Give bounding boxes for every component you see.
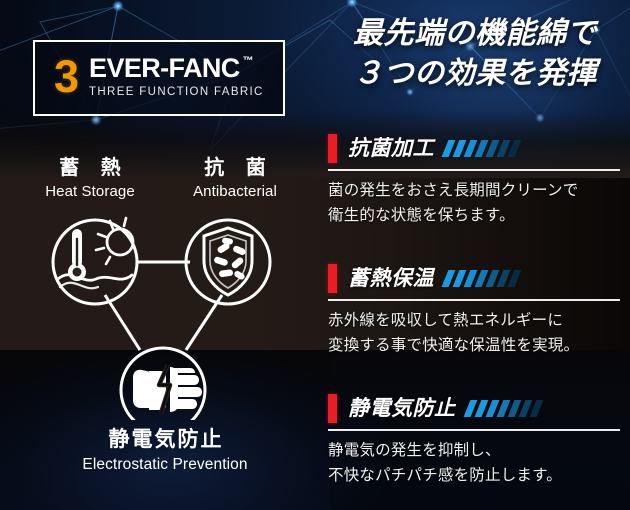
feature-body-line-1: 赤外線を吸収して熱エネルギーに [328, 308, 624, 333]
red-accent-bar-icon [328, 134, 337, 163]
label-antibacterial-en: Antibacterial [160, 183, 310, 201]
trademark-icon: ™ [243, 56, 253, 67]
feature-heading: 静電気防止 [328, 392, 624, 424]
feature-body-line-2: 不快なパチパチ感を防止します。 [328, 463, 624, 488]
icon-antibacterial [186, 220, 270, 304]
label-electrostatic-en: Electrostatic Prevention [35, 456, 295, 475]
feature-heading: 抗菌加工 [328, 132, 624, 164]
feature-divider [328, 169, 620, 171]
logo-brand-name: EVER-FANC ™ [89, 55, 264, 82]
page-title: 最先端の機能綿で ３つの効果を発揮 [325, 14, 625, 94]
feature-body-line-2: 衛生的な状態を保ちます。 [328, 203, 624, 228]
label-antibacterial: 抗 菌 Antibacterial [160, 157, 310, 201]
red-accent-bar-icon [328, 394, 337, 423]
blue-slash-decoration-icon [445, 140, 522, 157]
feature-block-antistatic: 静電気防止 静電気の発生を抑制し、 不快なパチパチ感を防止します。 [328, 392, 624, 488]
label-antibacterial-jp: 抗 菌 [160, 157, 310, 180]
logo-text-group: EVER-FANC ™ THREE FUNCTION FABRIC [89, 55, 264, 99]
label-heat-storage-en: Heat Storage [20, 183, 160, 201]
feature-triangle-diagram [0, 205, 315, 420]
icon-electrostatic-prevention [121, 348, 205, 420]
feature-divider [328, 429, 620, 431]
feature-title: 蓄熱保温 [348, 268, 434, 289]
headline-line-2: ３つの効果を発揮 [325, 54, 625, 94]
feature-body: 菌の発生をおさえ長期間クリーンで 衛生的な状態を保ちます。 [328, 178, 624, 228]
logo-brand-text: EVER-FANC [89, 55, 240, 82]
diagram-connectors [105, 262, 222, 350]
feature-block-antibacterial: 抗菌加工 菌の発生をおさえ長期間クリーンで 衛生的な状態を保ちます。 [328, 132, 624, 228]
blue-slash-decoration-icon [445, 270, 522, 287]
feature-divider [328, 299, 620, 301]
feature-body: 赤外線を吸収して熱エネルギーに 変換する事で快適な保温性を実現。 [328, 308, 624, 358]
label-electrostatic-prevention: 静電気防止 Electrostatic Prevention [35, 428, 295, 475]
shield-icon [204, 228, 252, 295]
label-heat-storage-jp: 蓄 熱 [20, 157, 160, 180]
feature-title: 静電気防止 [348, 398, 456, 419]
bacteria-icon [213, 237, 246, 280]
logo-tagline: THREE FUNCTION FABRIC [89, 87, 264, 99]
feature-heading: 蓄熱保温 [328, 262, 624, 294]
brand-logo: 3 EVER-FANC ™ THREE FUNCTION FABRIC [33, 40, 285, 116]
blue-slash-decoration-icon [467, 400, 544, 417]
icon-heat-storage [53, 218, 137, 304]
red-accent-bar-icon [328, 264, 337, 293]
feature-block-heat-retention: 蓄熱保温 赤外線を吸収して熱エネルギーに 変換する事で快適な保温性を実現。 [328, 262, 624, 358]
feature-body-line-1: 菌の発生をおさえ長期間クリーンで [328, 178, 624, 203]
headline-line-1: 最先端の機能綿で [325, 14, 625, 54]
feature-body: 静電気の発生を抑制し、 不快なパチパチ感を防止します。 [328, 438, 624, 488]
feature-body-line-2: 変換する事で快適な保温性を実現。 [328, 333, 624, 358]
label-electrostatic-jp: 静電気防止 [35, 428, 295, 452]
infographic-banner: 3 EVER-FANC ™ THREE FUNCTION FABRIC 最先端の… [0, 0, 630, 510]
feature-body-line-1: 静電気の発生を抑制し、 [328, 438, 624, 463]
feature-title: 抗菌加工 [348, 138, 434, 159]
label-heat-storage: 蓄 熱 Heat Storage [20, 157, 160, 201]
logo-numeral: 3 [54, 54, 78, 99]
